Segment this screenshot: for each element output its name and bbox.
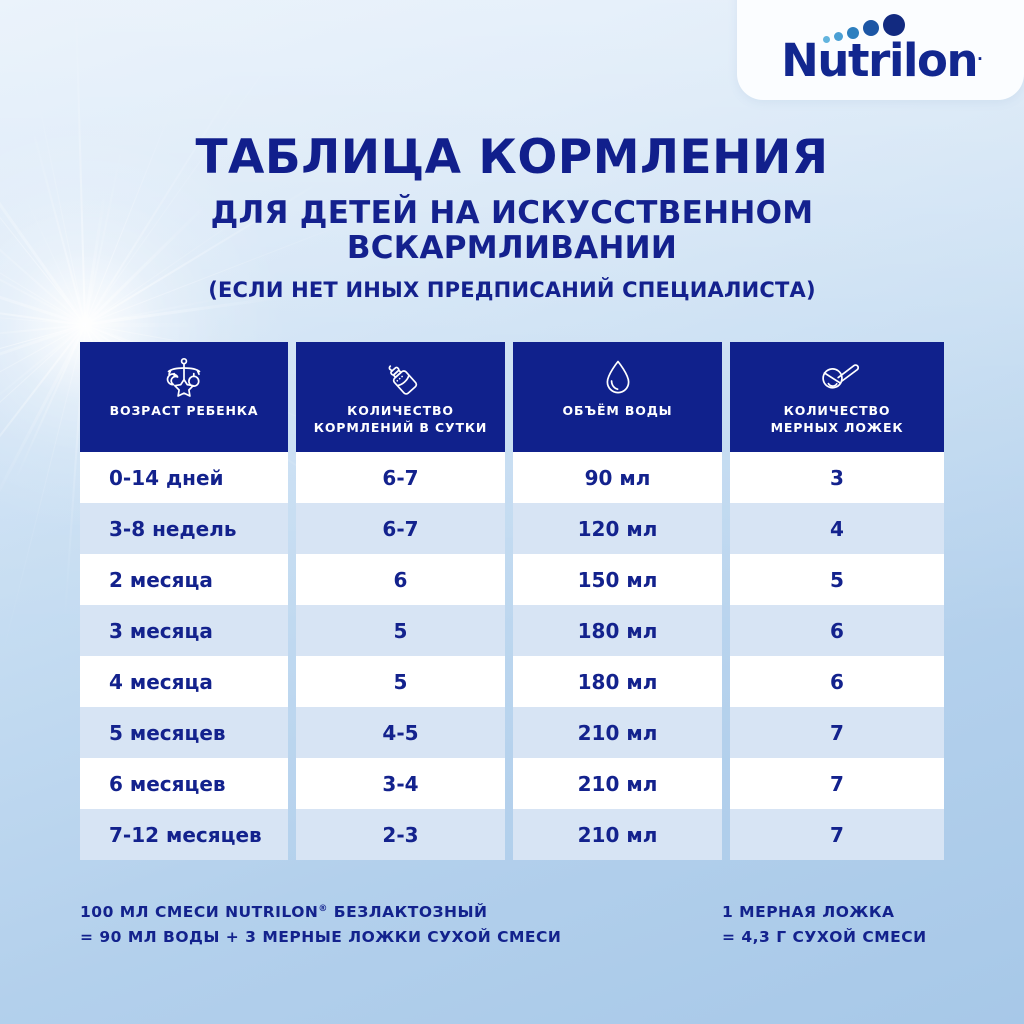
poster-canvas: Nutrilon. ТАБЛИЦА КОРМЛЕНИЯ ДЛЯ ДЕТЕЙ НА… xyxy=(0,0,1024,1024)
page-title: ТАБЛИЦА КОРМЛЕНИЯ xyxy=(0,133,1024,183)
table-cell-age: 3-8 недель xyxy=(80,503,288,554)
sunburst-ray xyxy=(85,323,205,326)
sunburst-ray xyxy=(0,324,86,546)
table-cell-water: 210 мл xyxy=(513,707,722,758)
table-cell-water: 90 мл xyxy=(513,452,722,503)
table-header-water: ОБЪЁМ ВОДЫ xyxy=(513,342,722,452)
table-header-water-label-l1: ОБЪЁМ ВОДЫ xyxy=(563,403,673,420)
table-header-water-label: ОБЪЁМ ВОДЫ xyxy=(563,403,673,420)
table-cells-age: 0-14 дней3-8 недель2 месяца3 месяца4 мес… xyxy=(80,452,288,860)
baby-mobile-icon xyxy=(162,355,206,401)
table-cell-feedings: 2-3 xyxy=(296,809,505,860)
table-cell-water: 210 мл xyxy=(513,758,722,809)
table-cell-feedings: 4-5 xyxy=(296,707,505,758)
brand-logo: Nutrilon. xyxy=(757,8,1007,100)
table-cell-feedings: 6 xyxy=(296,554,505,605)
footnote-left-line1-b: БЕЗЛАКТОЗНЫЙ xyxy=(328,903,488,921)
feeding-table: ВОЗРАСТ РЕБЕНКА 0-14 дней3-8 недель2 мес… xyxy=(80,342,944,860)
table-header-age-label-l1: ВОЗРАСТ РЕБЕНКА xyxy=(110,403,259,420)
table-cells-feedings: 6-76-76554-53-42-3 xyxy=(296,452,505,860)
table-cell-scoops: 5 xyxy=(730,554,944,605)
table-column-age: ВОЗРАСТ РЕБЕНКА 0-14 дней3-8 недель2 мес… xyxy=(80,342,288,860)
table-cell-age: 4 месяца xyxy=(80,656,288,707)
sunburst-ray xyxy=(0,324,85,425)
footnote-left-line2: = 90 МЛ ВОДЫ + 3 МЕРНЫЕ ЛОЖКИ СУХОЙ СМЕС… xyxy=(80,925,561,950)
sunburst-ray xyxy=(0,309,85,325)
table-column-scoops: КОЛИЧЕСТВО МЕРНЫХ ЛОЖЕК 34566777 xyxy=(730,342,944,860)
table-cell-water: 120 мл xyxy=(513,503,722,554)
table-column-water: ОБЪЁМ ВОДЫ 90 мл120 мл150 мл180 мл180 мл… xyxy=(513,342,722,860)
table-cell-water: 180 мл xyxy=(513,605,722,656)
page-note: (ЕСЛИ НЕТ ИНЫХ ПРЕДПИСАНИЙ СПЕЦИАЛИСТА) xyxy=(0,278,1024,302)
poster-titles: ТАБЛИЦА КОРМЛЕНИЯ ДЛЯ ДЕТЕЙ НА ИСКУССТВЕ… xyxy=(0,133,1024,302)
table-cell-age: 6 месяцев xyxy=(80,758,288,809)
table-cell-feedings: 6-7 xyxy=(296,503,505,554)
table-cell-water: 210 мл xyxy=(513,809,722,860)
table-cells-water: 90 мл120 мл150 мл180 мл180 мл210 мл210 м… xyxy=(513,452,722,860)
table-cell-scoops: 4 xyxy=(730,503,944,554)
table-cell-age: 7-12 месяцев xyxy=(80,809,288,860)
table-cell-scoops: 3 xyxy=(730,452,944,503)
page-subtitle-line1: ДЛЯ ДЕТЕЙ НА ИСКУССТВЕННОМ xyxy=(0,196,1024,231)
table-cell-age: 2 месяца xyxy=(80,554,288,605)
table-cell-scoops: 6 xyxy=(730,605,944,656)
footnote-left: 100 МЛ СМЕСИ NUTRILON® БЕЗЛАКТОЗНЫЙ = 90… xyxy=(80,900,561,950)
table-gutter-1 xyxy=(288,342,296,860)
table-cell-feedings: 3-4 xyxy=(296,758,505,809)
footnote-left-registered-mark: ® xyxy=(318,904,328,914)
table-header-feedings: КОЛИЧЕСТВО КОРМЛЕНИЙ В СУТКИ xyxy=(296,342,505,452)
page-subtitle: ДЛЯ ДЕТЕЙ НА ИСКУССТВЕННОМ ВСКАРМЛИВАНИИ xyxy=(0,196,1024,267)
table-cell-feedings: 6-7 xyxy=(296,452,505,503)
measuring-scoop-icon xyxy=(813,355,861,401)
table-gutter-2 xyxy=(505,342,513,860)
table-header-feedings-label: КОЛИЧЕСТВО КОРМЛЕНИЙ В СУТКИ xyxy=(314,403,487,436)
table-header-scoops: КОЛИЧЕСТВО МЕРНЫХ ЛОЖЕК xyxy=(730,342,944,452)
sunburst-ray xyxy=(0,324,85,410)
sunburst-ray xyxy=(0,324,85,339)
table-cell-scoops: 6 xyxy=(730,656,944,707)
table-header-scoops-label: КОЛИЧЕСТВО МЕРНЫХ ЛОЖЕК xyxy=(771,403,904,436)
table-header-age: ВОЗРАСТ РЕБЕНКА xyxy=(80,342,288,452)
sunburst-ray xyxy=(0,323,86,410)
table-cells-scoops: 34566777 xyxy=(730,452,944,860)
table-cell-scoops: 7 xyxy=(730,809,944,860)
sunburst-ray xyxy=(0,325,85,549)
sunburst-ray xyxy=(14,325,86,483)
table-cell-scoops: 7 xyxy=(730,707,944,758)
brand-wordmark: Nutrilon. xyxy=(757,34,1007,87)
table-cell-age: 0-14 дней xyxy=(80,452,288,503)
table-cell-age: 5 месяцев xyxy=(80,707,288,758)
logo-dot xyxy=(883,14,905,36)
baby-bottle-icon xyxy=(378,355,424,401)
table-gutter-3 xyxy=(722,342,730,860)
footnote-left-line1: 100 МЛ СМЕСИ NUTRILON® БЕЗЛАКТОЗНЫЙ xyxy=(80,900,561,925)
footnote-right-line1: 1 МЕРНАЯ ЛОЖКА xyxy=(722,900,927,925)
footnote-left-line1-a: 100 МЛ СМЕСИ NUTRILON xyxy=(80,903,318,921)
table-cell-age: 3 месяца xyxy=(80,605,288,656)
footnote-right: 1 МЕРНАЯ ЛОЖКА = 4,3 Г СУХОЙ СМЕСИ xyxy=(722,900,927,950)
table-header-scoops-label-l2: МЕРНЫХ ЛОЖЕК xyxy=(771,420,904,437)
sunburst-ray xyxy=(0,325,86,664)
sunburst-ray xyxy=(0,324,87,525)
table-header-age-label: ВОЗРАСТ РЕБЕНКА xyxy=(110,403,259,420)
brand-registered-mark: . xyxy=(977,46,983,64)
water-drop-icon xyxy=(601,355,635,401)
table-cell-water: 180 мл xyxy=(513,656,722,707)
table-header-feedings-label-l2: КОРМЛЕНИЙ В СУТКИ xyxy=(314,420,487,437)
footnote-right-line2: = 4,3 Г СУХОЙ СМЕСИ xyxy=(722,925,927,950)
page-subtitle-line2: ВСКАРМЛИВАНИИ xyxy=(0,231,1024,266)
table-cell-feedings: 5 xyxy=(296,605,505,656)
sunburst-ray xyxy=(0,324,86,423)
table-column-feedings: КОЛИЧЕСТВО КОРМЛЕНИЙ В СУТКИ 6-76-76554-… xyxy=(296,342,505,860)
table-cell-scoops: 7 xyxy=(730,758,944,809)
brand-wordmark-text: Nutrilon xyxy=(781,34,977,87)
table-cell-water: 150 мл xyxy=(513,554,722,605)
table-cell-feedings: 5 xyxy=(296,656,505,707)
table-header-scoops-label-l1: КОЛИЧЕСТВО xyxy=(771,403,904,420)
table-header-feedings-label-l1: КОЛИЧЕСТВО xyxy=(314,403,487,420)
